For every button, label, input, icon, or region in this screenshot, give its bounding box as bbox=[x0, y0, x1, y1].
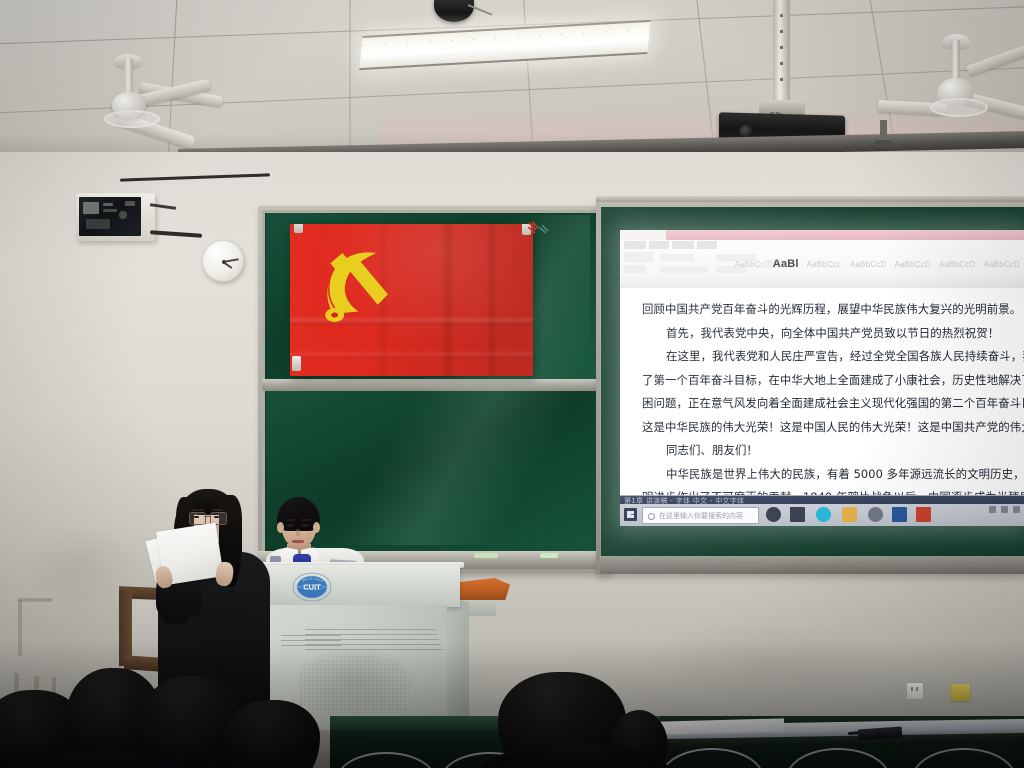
audience-head bbox=[224, 700, 320, 768]
document-line: 这是中华民族的伟大光荣！这是中国人民的伟大光荣！这是中国共产党的伟大光荣！ bbox=[642, 416, 1008, 440]
cuit-logo-text: CUIT bbox=[303, 583, 321, 592]
power-outlet-icon bbox=[906, 682, 924, 700]
eyeglass-lens bbox=[189, 512, 206, 525]
fan-right-ring bbox=[930, 98, 988, 117]
projector-lens-icon bbox=[739, 125, 753, 137]
search-placeholder: 在这里输入你要搜索的内容 bbox=[659, 511, 743, 521]
wall-mounted-monitor bbox=[76, 193, 155, 241]
style-chip-active[interactable]: AaBl bbox=[773, 258, 799, 270]
ribbon-tab-row bbox=[622, 241, 772, 249]
document-line: 回顾中国共产党百年奋斗的光辉历程，展望中华民族伟大复兴的光明前景。 bbox=[642, 298, 1008, 322]
window-title-strip: 第1章 讲演稿 - 字体 中文 - 中文字体 bbox=[620, 496, 1024, 504]
document-line: 了第一个百年奋斗目标，在中华大地上全面建成了小康社会，历史性地解决了绝对贫 bbox=[642, 369, 1008, 393]
style-chip[interactable]: AaBbCcD bbox=[894, 260, 931, 269]
edge-icon[interactable] bbox=[816, 507, 831, 522]
tray-network-icon[interactable] bbox=[989, 506, 996, 513]
cpc-party-flag bbox=[290, 224, 533, 376]
file-explorer-icon[interactable] bbox=[842, 507, 857, 522]
host-eye bbox=[287, 524, 293, 527]
style-chip[interactable]: AaBbCc bbox=[734, 260, 765, 269]
flag-clip bbox=[294, 224, 303, 233]
classroom-scene: AaBbCc AaBl AaBbCcL AaBbCcD AaBbCcD AaBb… bbox=[0, 0, 1024, 768]
style-gallery[interactable]: AaBbCc AaBl AaBbCcL AaBbCcD AaBbCcD AaBb… bbox=[734, 251, 1020, 277]
document-line: 困问题，正在意气风发向着全面建成社会主义现代化强国的第二个百年奋斗目标迈进。 bbox=[642, 392, 1008, 416]
document-line: 首先，我代表党中央，向全体中国共产党员致以节日的热烈祝贺！ bbox=[642, 322, 1008, 346]
task-view-icon[interactable] bbox=[790, 507, 805, 522]
tray-clock[interactable] bbox=[1013, 506, 1020, 513]
system-tray[interactable] bbox=[989, 506, 1020, 513]
powerpoint-icon[interactable] bbox=[916, 507, 931, 522]
projector-mount-pole bbox=[773, 0, 790, 104]
cortana-icon[interactable] bbox=[766, 507, 781, 522]
word-title-bar bbox=[620, 230, 1024, 240]
window-title: 第1章 讲演稿 - 字体 中文 - 中文字体 bbox=[624, 496, 744, 506]
start-button[interactable] bbox=[624, 508, 637, 521]
host-brow bbox=[286, 519, 296, 521]
eyeglass-bridge bbox=[204, 516, 210, 517]
word-document-page[interactable]: 回顾中国共产党百年奋斗的光辉历程，展望中华民族伟大复兴的光明前景。 首先，我代表… bbox=[620, 288, 1024, 496]
lectern-speaker-grille bbox=[293, 649, 415, 721]
word-icon[interactable] bbox=[892, 507, 907, 522]
host-brow bbox=[301, 519, 311, 521]
style-chip[interactable]: AaBbCcD bbox=[939, 260, 976, 269]
taskbar-search-input[interactable]: 在这里输入你要搜索的内容 bbox=[642, 507, 759, 524]
flag-clip bbox=[292, 356, 301, 371]
host-mouth bbox=[292, 540, 304, 543]
blackboard-middle-rail bbox=[262, 379, 606, 391]
chalk-piece bbox=[474, 553, 498, 558]
speaker-brow bbox=[192, 509, 204, 511]
chalk-piece bbox=[540, 553, 558, 558]
document-line: 在这里，我代表党和人民庄严宣告，经过全党全国各族人民持续奋斗，我们实现 bbox=[642, 345, 1008, 369]
wall-pipe-mark bbox=[14, 673, 19, 693]
word-ribbon: AaBbCc AaBl AaBbCcL AaBbCcD AaBbCcD AaBb… bbox=[620, 240, 1024, 289]
flag-tassel bbox=[527, 221, 549, 243]
style-chip[interactable]: AaBbCcD bbox=[850, 260, 887, 269]
windows-taskbar[interactable]: 第1章 讲演稿 - 字体 中文 - 中文字体 在这里输入你要搜索的内容 bbox=[620, 495, 1024, 526]
host-eye bbox=[302, 524, 308, 527]
wall-clock-icon bbox=[202, 240, 244, 282]
fan-right-downrod bbox=[951, 40, 960, 82]
lectern-front-panel bbox=[258, 565, 460, 607]
host-ear bbox=[313, 522, 320, 533]
lectern-side-panel bbox=[447, 598, 469, 729]
speaker-brow bbox=[211, 509, 223, 511]
style-chip[interactable]: AaBbCcL bbox=[807, 260, 842, 269]
cuit-logo-icon: CUIT 成都信息工程大学 bbox=[292, 572, 332, 602]
ceiling-hook bbox=[880, 120, 887, 144]
document-line: 同志们、朋友们！ bbox=[642, 439, 1008, 463]
sticky-note bbox=[951, 684, 970, 701]
monitor-screen bbox=[79, 197, 141, 236]
screen-bottom-bar bbox=[600, 556, 1024, 574]
host-nose bbox=[296, 529, 300, 536]
projected-screen: AaBbCc AaBl AaBbCcL AaBbCcD AaBbCcD AaBb… bbox=[620, 230, 1024, 526]
browser-icon[interactable] bbox=[868, 507, 883, 522]
wall-smudge bbox=[640, 622, 900, 702]
fan-left-ring bbox=[104, 110, 160, 128]
tray-volume-icon[interactable] bbox=[1001, 506, 1008, 513]
fan-left-downrod bbox=[124, 58, 133, 96]
style-chip[interactable]: AaBbCcD bbox=[983, 260, 1020, 269]
wall-pipe-mark bbox=[18, 598, 52, 602]
hammer-and-sickle-emblem-icon bbox=[314, 241, 400, 327]
wall-pipe-mark bbox=[18, 600, 22, 656]
document-line: 中华民族是世界上伟大的民族，有着 5000 多年源远流长的文明历史，为人类文 bbox=[642, 463, 1008, 487]
clock-center-pin bbox=[222, 260, 226, 264]
host-ear bbox=[277, 522, 284, 533]
wall-pipe-mark bbox=[52, 677, 56, 693]
